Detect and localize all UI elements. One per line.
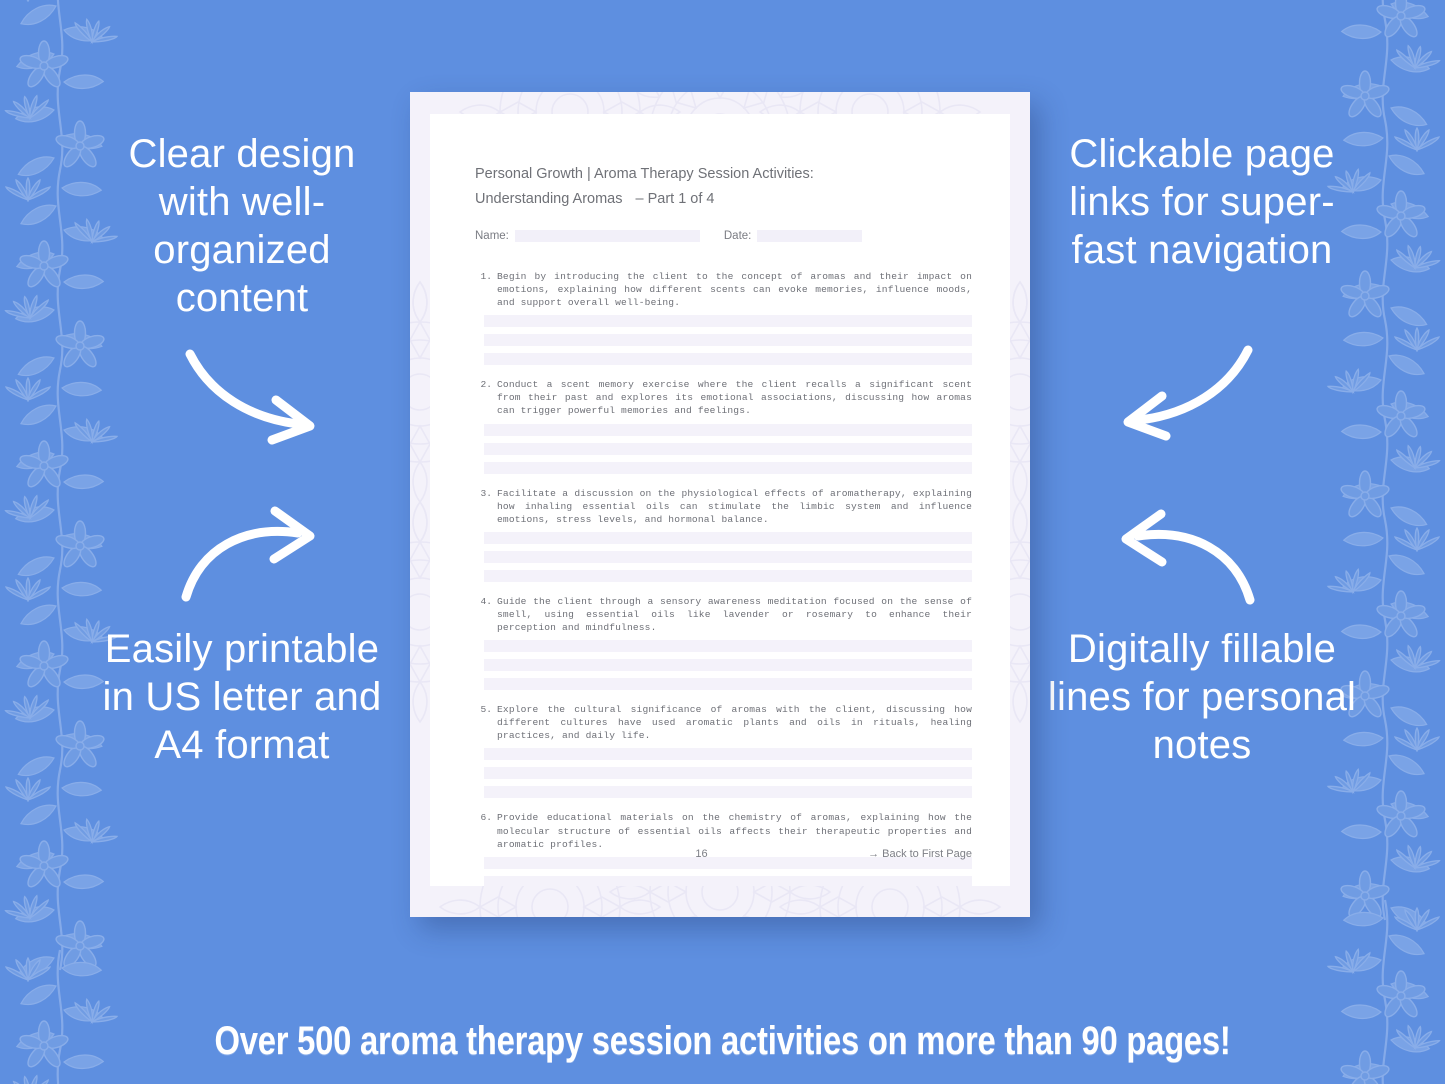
activity-item: 3.Facilitate a discussion on the physiol… bbox=[475, 487, 972, 582]
activity-item: 5.Explore the cultural significance of a… bbox=[475, 703, 972, 798]
fillable-line[interactable] bbox=[484, 315, 972, 327]
activity-item-text: Guide the client through a sensory aware… bbox=[497, 595, 972, 634]
fillable-line[interactable] bbox=[484, 532, 972, 544]
activity-item-row: 1.Begin by introducing the client to the… bbox=[475, 270, 972, 309]
fillable-line[interactable] bbox=[484, 551, 972, 563]
activity-item-number: 6. bbox=[475, 811, 497, 850]
fillable-lines bbox=[484, 532, 972, 582]
name-input[interactable] bbox=[515, 230, 700, 242]
document-title-part: – Part 1 of 4 bbox=[636, 191, 715, 207]
activity-item-number: 1. bbox=[475, 270, 497, 309]
fillable-line[interactable] bbox=[484, 443, 972, 455]
activity-item-text: Facilitate a discussion on the physiolog… bbox=[497, 487, 972, 526]
fillable-line[interactable] bbox=[484, 678, 972, 690]
benefit-bottom-left: Easily printable in US letter and A4 for… bbox=[92, 625, 392, 769]
fillable-line[interactable] bbox=[484, 876, 972, 886]
activity-item-row: 4.Guide the client through a sensory awa… bbox=[475, 595, 972, 634]
fillable-line[interactable] bbox=[484, 640, 972, 652]
fillable-line[interactable] bbox=[484, 748, 972, 760]
curved-arrow-left-bottom-right-icon bbox=[1098, 508, 1258, 608]
activity-item-text: Provide educational materials on the che… bbox=[497, 811, 972, 850]
bottom-banner: Over 500 aroma therapy session activitie… bbox=[0, 998, 1445, 1084]
activity-item-number: 4. bbox=[475, 595, 497, 634]
document-title-line1: Personal Growth | Aroma Therapy Session … bbox=[475, 162, 972, 187]
activity-item-number: 3. bbox=[475, 487, 497, 526]
fillable-lines bbox=[484, 748, 972, 798]
fillable-line[interactable] bbox=[484, 659, 972, 671]
fillable-line[interactable] bbox=[484, 334, 972, 346]
activity-item-number: 5. bbox=[475, 703, 497, 742]
benefit-bottom-right: Digitally fillable lines for personal no… bbox=[1047, 625, 1357, 769]
fillable-line[interactable] bbox=[484, 767, 972, 779]
fillable-lines bbox=[484, 857, 972, 886]
activity-item: 2.Conduct a scent memory exercise where … bbox=[475, 378, 972, 473]
curved-arrow-right-bottom-left-icon bbox=[178, 505, 338, 605]
fillable-lines bbox=[484, 424, 972, 474]
benefit-top-right: Clickable page links for super-fast navi… bbox=[1047, 130, 1357, 274]
name-date-row: Name: Date: bbox=[475, 230, 972, 242]
fillable-line[interactable] bbox=[484, 786, 972, 798]
document-preview[interactable]: Personal Growth | Aroma Therapy Session … bbox=[410, 92, 1030, 917]
fillable-lines bbox=[484, 315, 972, 365]
activity-item-text: Explore the cultural significance of aro… bbox=[497, 703, 972, 742]
fillable-line[interactable] bbox=[484, 570, 972, 582]
activity-item-number: 2. bbox=[475, 378, 497, 417]
activity-item: 4.Guide the client through a sensory awa… bbox=[475, 595, 972, 690]
activity-item-row: 6.Provide educational materials on the c… bbox=[475, 811, 972, 850]
benefit-top-left: Clear design with well-organized content bbox=[92, 130, 392, 322]
fillable-lines bbox=[484, 640, 972, 690]
document-title-subject: Understanding Aromas bbox=[475, 191, 623, 207]
activity-item-row: 3.Facilitate a discussion on the physiol… bbox=[475, 487, 972, 526]
activity-item-row: 5.Explore the cultural significance of a… bbox=[475, 703, 972, 742]
banner-text: Over 500 aroma therapy session activitie… bbox=[214, 1019, 1230, 1064]
fillable-line[interactable] bbox=[484, 353, 972, 365]
date-label: Date: bbox=[724, 230, 752, 242]
document-page: Personal Growth | Aroma Therapy Session … bbox=[430, 114, 1010, 886]
page-number: 16 bbox=[475, 848, 868, 860]
date-input[interactable] bbox=[757, 230, 862, 242]
document-title-line2: Understanding Aromas– Part 1 of 4 bbox=[475, 187, 972, 212]
curved-arrow-left-top-right-icon bbox=[1098, 344, 1258, 444]
back-to-first-page-link[interactable]: → Back to First Page bbox=[868, 848, 972, 860]
activity-item-text: Conduct a scent memory exercise where th… bbox=[497, 378, 972, 417]
name-label: Name: bbox=[475, 230, 509, 242]
curved-arrow-right-top-left-icon bbox=[180, 348, 340, 448]
activity-item: 1.Begin by introducing the client to the… bbox=[475, 270, 972, 365]
activity-item-text: Begin by introducing the client to the c… bbox=[497, 270, 972, 309]
activity-item-row: 2.Conduct a scent memory exercise where … bbox=[475, 378, 972, 417]
activity-list: 1.Begin by introducing the client to the… bbox=[475, 270, 972, 886]
document-footer: 16 → Back to First Page bbox=[475, 848, 972, 860]
fillable-line[interactable] bbox=[484, 462, 972, 474]
fillable-line[interactable] bbox=[484, 424, 972, 436]
